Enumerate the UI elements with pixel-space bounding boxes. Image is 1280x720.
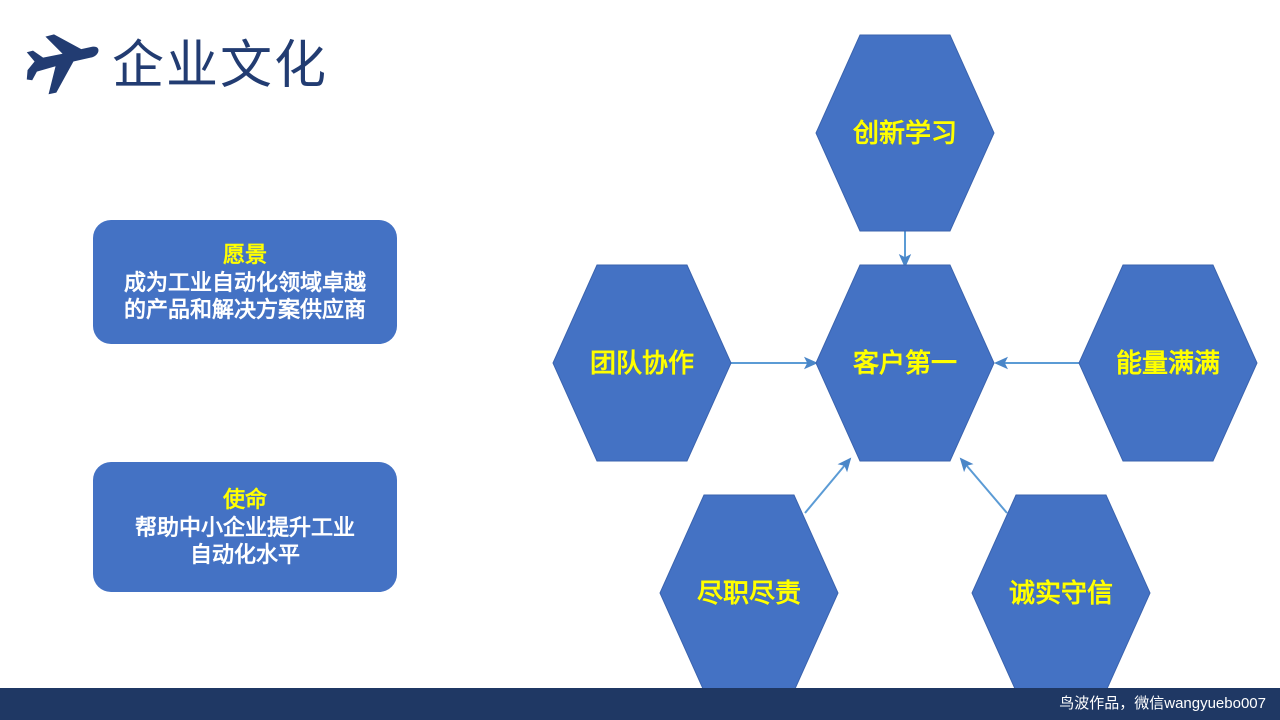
footer-bar: 鸟波作品，微信wangyuebo007 (0, 688, 1280, 720)
hexagon-right[interactable] (1079, 265, 1257, 461)
hexagon-top[interactable] (816, 35, 994, 231)
page-title: 企业文化 (112, 30, 328, 102)
slide-canvas: 企业文化 愿景 成为工业自动化领域卓越 的产品和解决方案供应商 使命 帮助中小企… (0, 0, 1280, 720)
connector-bottomleft-to-center (805, 459, 850, 513)
hexagon-bottom-left[interactable] (660, 495, 838, 691)
airplane-icon (22, 32, 100, 102)
mission-card-body: 帮助中小企业提升工业 自动化水平 (101, 514, 389, 568)
hexagon-diagram: 创新学习 客户第一 团队协作 能量满满 尽职尽责 诚实守信 (520, 0, 1280, 700)
hexagon-center[interactable] (816, 265, 994, 461)
mission-card: 使命 帮助中小企业提升工业 自动化水平 (93, 462, 397, 592)
hexagon-left[interactable] (553, 265, 731, 461)
hexagon-diagram-svg (520, 0, 1280, 700)
vision-card: 愿景 成为工业自动化领域卓越 的产品和解决方案供应商 (93, 220, 397, 344)
connector-bottomright-to-center (961, 459, 1007, 513)
hexagon-bottom-right[interactable] (972, 495, 1150, 691)
mission-card-title: 使命 (101, 487, 389, 513)
vision-card-title: 愿景 (101, 242, 389, 268)
vision-card-body: 成为工业自动化领域卓越 的产品和解决方案供应商 (101, 269, 389, 323)
footer-credit-text: 鸟波作品，微信wangyuebo007 (1059, 688, 1266, 720)
